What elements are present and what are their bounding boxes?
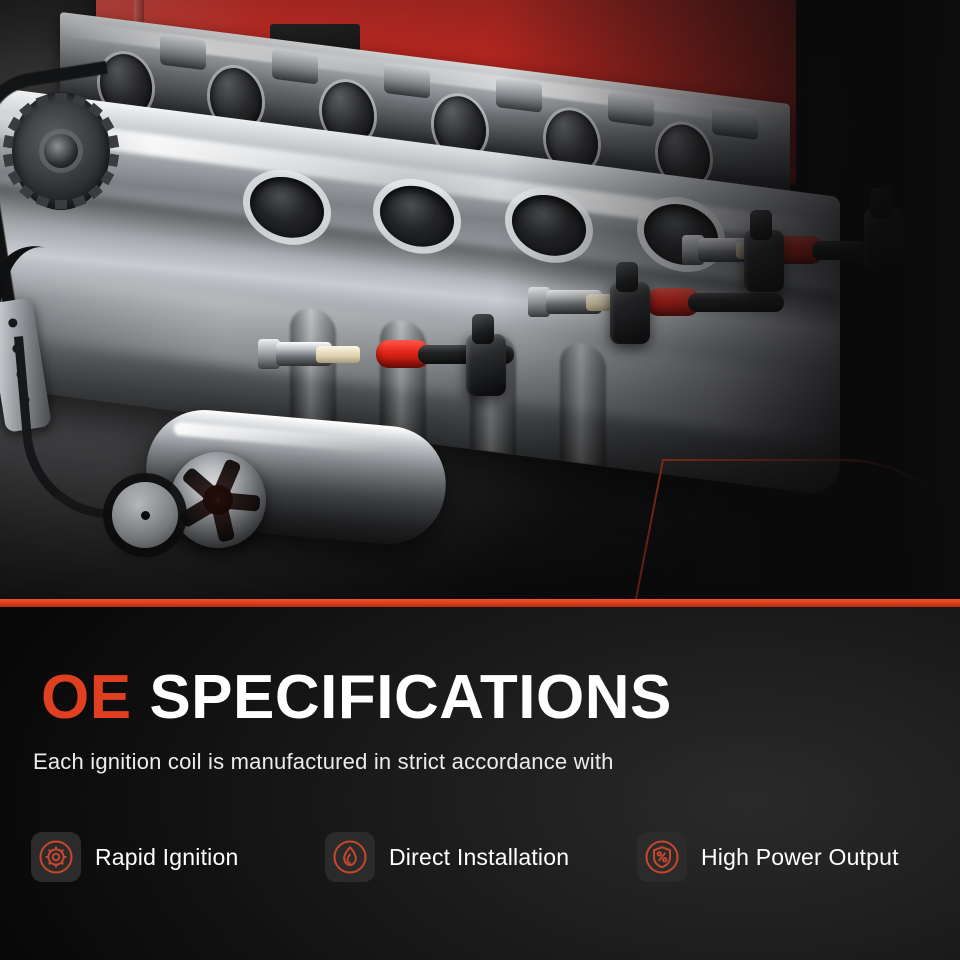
headline-rest-text: SPECIFICATIONS <box>149 663 672 732</box>
feature-label: High Power Output <box>701 844 899 871</box>
engine-hero-image <box>0 0 960 601</box>
subheadline: Each ignition coil is manufactured in st… <box>33 749 614 775</box>
hero-vignette <box>0 0 960 601</box>
feature-label: Direct Installation <box>389 844 569 871</box>
flame-icon-tile <box>325 832 375 882</box>
shield-percent-icon-tile <box>637 832 687 882</box>
headline-rest: SPECIFICATIONS <box>132 663 672 732</box>
specs-panel: OE SPECIFICATIONS Each ignition coil is … <box>0 607 960 960</box>
orange-divider-bar <box>0 599 960 607</box>
gear-icon-tile <box>31 832 81 882</box>
page-title: OE SPECIFICATIONS <box>41 667 672 729</box>
shield-percent-icon <box>644 839 680 875</box>
feature-label: Rapid Ignition <box>95 844 238 871</box>
headline-accent-word: OE <box>41 663 132 732</box>
flame-icon <box>332 839 368 875</box>
feature-item-high-power-output: High Power Output <box>637 829 899 885</box>
feature-list: Rapid Ignition Direct Installation <box>31 829 931 889</box>
feature-item-rapid-ignition: Rapid Ignition <box>31 829 238 885</box>
gear-icon <box>38 839 74 875</box>
product-marketing-image: OE SPECIFICATIONS Each ignition coil is … <box>0 0 960 960</box>
feature-item-direct-installation: Direct Installation <box>325 829 569 885</box>
